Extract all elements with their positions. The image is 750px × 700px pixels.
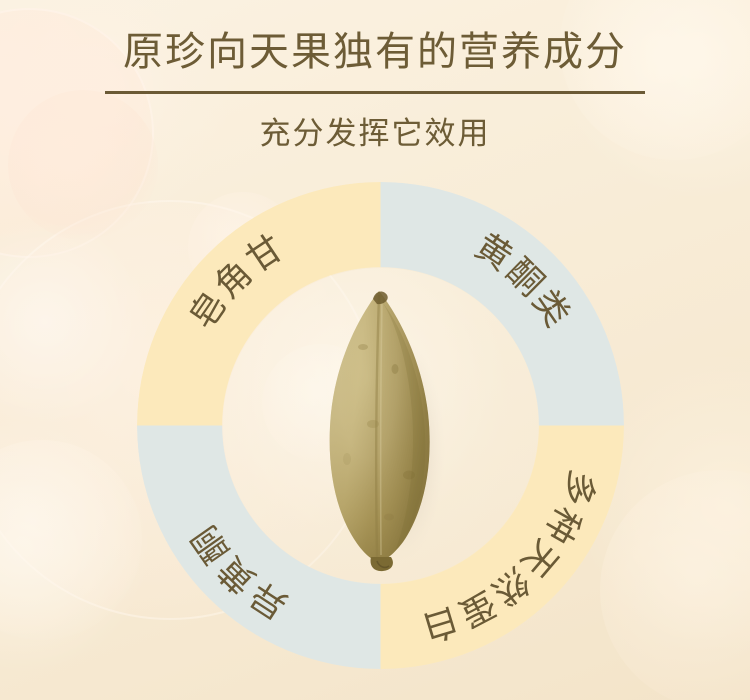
bokeh-circle [0,440,142,640]
nutrition-infographic-poster: 原珍向天果独有的营养成分 充分发挥它效用 [0,0,750,700]
heading-block: 原珍向天果独有的营养成分 充分发挥它效用 [0,28,750,153]
page-subtitle: 充分发挥它效用 [0,108,750,153]
ring-segments [137,182,624,669]
nutrient-ring-diagram: 皂角甘 黄酮类 多种天然蛋白 异黄酮 [137,182,624,669]
page-title: 原珍向天果独有的营养成分 [0,28,750,77]
title-divider [105,91,645,94]
